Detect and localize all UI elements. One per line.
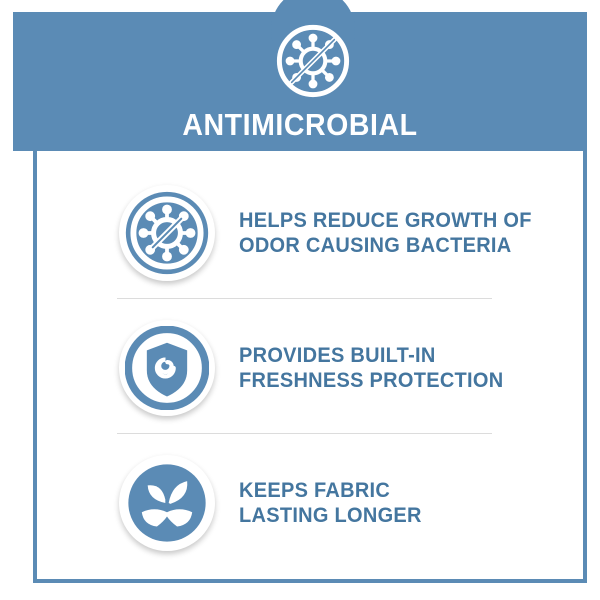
feature-text-line2: ODOR CAUSING BACTERIA — [239, 233, 532, 258]
feature-text-line1: HELPS REDUCE GROWTH OF — [239, 208, 532, 233]
header-band: ANTIMICROBIAL — [13, 12, 587, 151]
antimicrobial-infographic: ANTIMICROBIAL — [0, 0, 600, 600]
feature-icon-badge — [119, 185, 215, 281]
feature-text-line1: KEEPS FABRIC — [239, 478, 422, 503]
feature-text: PROVIDES BUILT-IN FRESHNESS PROTECTION — [239, 343, 503, 393]
list-item: KEEPS FABRIC LASTING LONGER — [37, 437, 583, 569]
feature-text-line2: LASTING LONGER — [239, 503, 422, 528]
feature-text: HELPS REDUCE GROWTH OF ODOR CAUSING BACT… — [239, 208, 532, 258]
no-germ-icon — [272, 20, 354, 102]
feature-text-line2: FRESHNESS PROTECTION — [239, 368, 503, 393]
feature-list: HELPS REDUCE GROWTH OF ODOR CAUSING BACT… — [37, 151, 583, 579]
list-item: PROVIDES BUILT-IN FRESHNESS PROTECTION — [37, 302, 583, 434]
page-title: ANTIMICROBIAL — [36, 108, 564, 142]
feature-text-line1: PROVIDES BUILT-IN — [239, 343, 503, 368]
feature-text: KEEPS FABRIC LASTING LONGER — [239, 478, 422, 528]
feature-icon-badge — [119, 455, 215, 551]
list-item: HELPS REDUCE GROWTH OF ODOR CAUSING BACT… — [37, 167, 583, 299]
leaf-fabric-icon — [125, 461, 209, 545]
features-panel: HELPS REDUCE GROWTH OF ODOR CAUSING BACT… — [33, 151, 587, 583]
no-germ-circle-icon — [125, 191, 209, 275]
feature-icon-badge — [119, 320, 215, 416]
shield-swirl-icon — [125, 326, 209, 410]
